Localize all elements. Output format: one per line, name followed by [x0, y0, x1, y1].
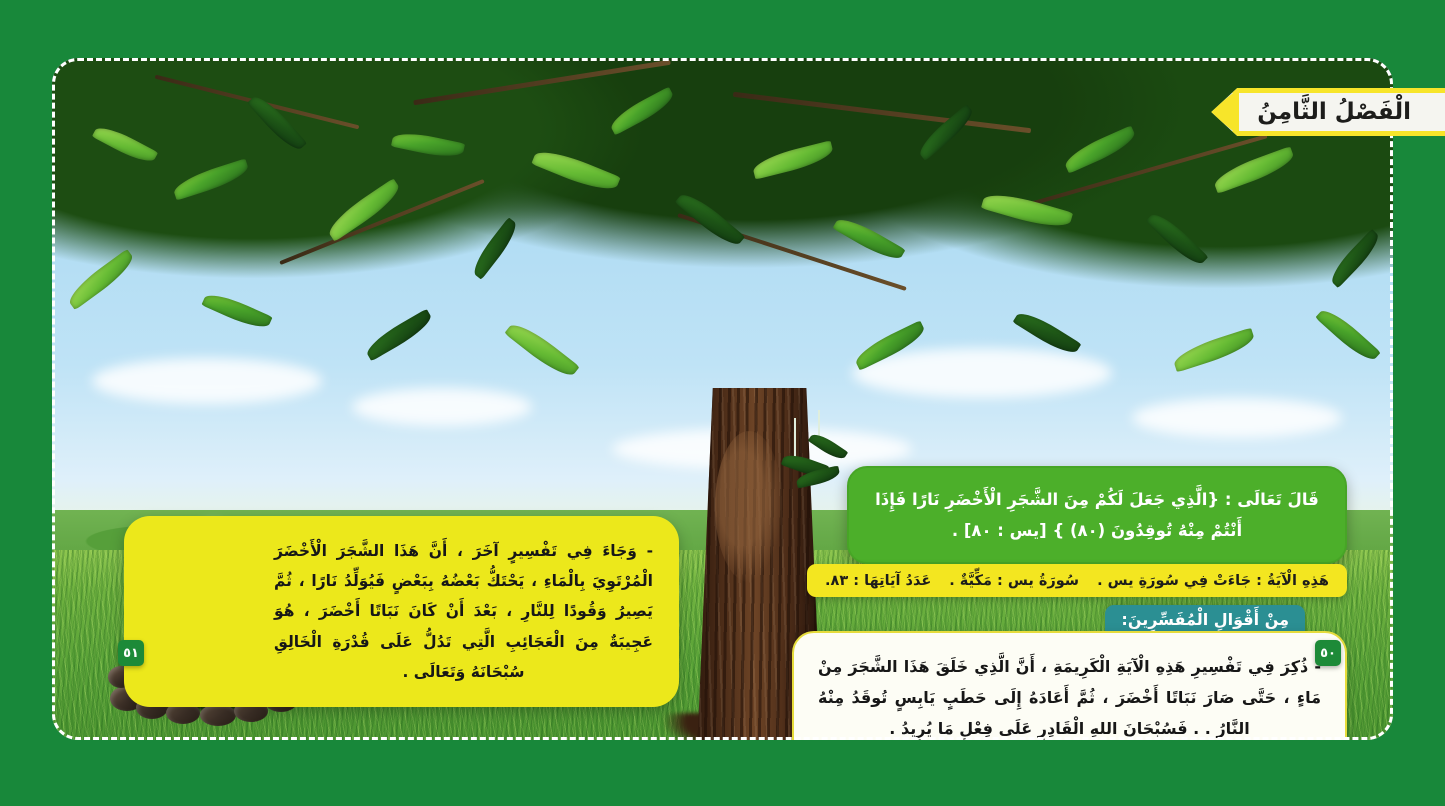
page-number-left: ٥١ [118, 640, 144, 666]
page-number-right: ٥٠ [1315, 640, 1341, 666]
surah-info-part-3: عَدَدُ آيَاتِهَا : ٨٣. [825, 573, 931, 589]
mufassirin-label-text: مِنْ أَقْوَالِ الْمُفَسِّرِينَ: [1121, 610, 1289, 629]
chapter-tab: الْفَصْلُ الثَّامِنُ [1211, 88, 1445, 136]
green-tree-icon [52, 58, 1393, 442]
tab-accent-top [1223, 88, 1445, 93]
chapter-title: الْفَصْلُ الثَّامِنُ [1257, 99, 1411, 125]
surah-info-part-1: هَذِهِ الْآيَةُ : جَاءَتْ فِي سُورَةِ يس… [1097, 573, 1329, 589]
surah-info-part-2: سُورَةُ يس : مَكِّيَّةٌ . [949, 573, 1079, 589]
explanation-text: - وَجَاءَ فِي تَفْسِيرٍ آخَرَ ، أَنَّ هَ… [274, 536, 653, 687]
surah-info-row: هَذِهِ الْآيَةُ : جَاءَتْ فِي سُورَةِ يس… [825, 573, 1329, 589]
commentary-card: - ذُكِرَ فِي تَفْسِيرِ هَذِهِ الْآيَةِ ا… [792, 631, 1347, 740]
scene-photo: - وَجَاءَ فِي تَفْسِيرٍ آخَرَ ، أَنَّ هَ… [52, 58, 1393, 740]
explanation-card: - وَجَاءَ فِي تَفْسِيرٍ آخَرَ ، أَنَّ هَ… [124, 516, 679, 707]
page-spread: - وَجَاءَ فِي تَفْسِيرٍ آخَرَ ، أَنَّ هَ… [0, 0, 1445, 806]
commentary-text: - ذُكِرَ فِي تَفْسِيرِ هَذِهِ الْآيَةِ ا… [818, 651, 1321, 740]
surah-info-strip: هَذِهِ الْآيَةُ : جَاءَتْ فِي سُورَةِ يس… [807, 564, 1347, 597]
tab-accent-bottom [1223, 131, 1445, 136]
quran-verse-card: قَالَ تَعَالَى : {الَّذِي جَعَلَ لَكُمْ … [847, 466, 1347, 564]
quran-verse-text: قَالَ تَعَالَى : {الَّذِي جَعَلَ لَكُمْ … [869, 485, 1325, 546]
